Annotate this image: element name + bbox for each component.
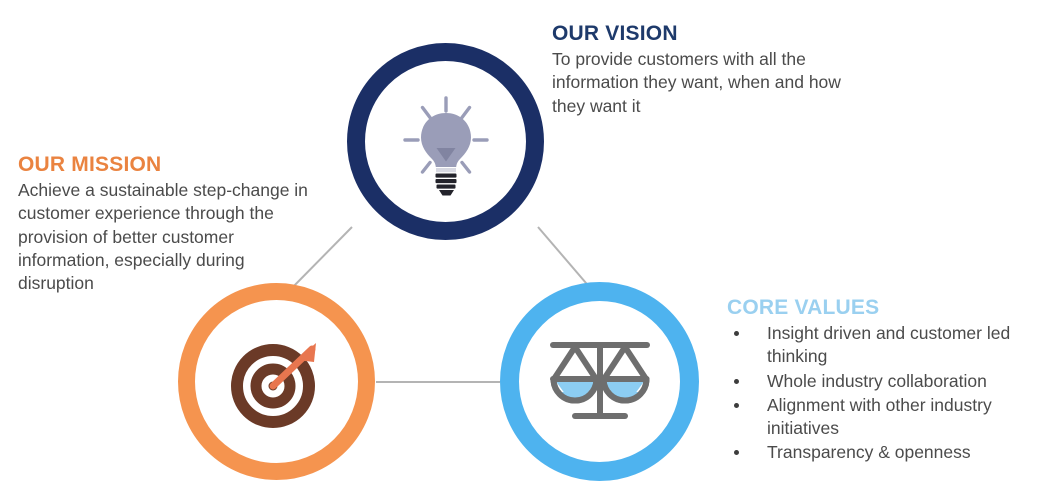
bullet-icon [734, 450, 739, 455]
list-item-label: Transparency & openness [767, 442, 971, 462]
mission-circle[interactable] [178, 283, 375, 480]
values-circle[interactable] [500, 282, 699, 481]
values-heading: CORE VALUES [727, 296, 1037, 320]
balance-scales-icon [542, 330, 658, 434]
mission-text-block: OUR MISSION Achieve a sustainable step-c… [18, 153, 323, 295]
values-list: Insight driven and customer led thinking… [727, 322, 1037, 465]
values-text-block: CORE VALUES Insight driven and customer … [727, 296, 1037, 466]
mission-icon-holder [195, 300, 358, 463]
bullet-icon [734, 403, 739, 408]
list-item-label: Insight driven and customer led thinking [767, 323, 1010, 366]
diagram-canvas: OUR VISION To provide customers with all… [0, 0, 1054, 492]
mission-body: Achieve a sustainable step-change in cus… [18, 179, 323, 295]
list-item: Insight driven and customer led thinking [727, 322, 1037, 369]
list-item-label: Whole industry collaboration [767, 371, 987, 391]
values-icon-holder [519, 301, 680, 462]
list-item: Whole industry collaboration [727, 370, 1037, 393]
connector-vision-to-values [538, 227, 592, 290]
vision-body: To provide customers with all the inform… [552, 48, 842, 118]
list-item: Transparency & openness [727, 441, 1037, 464]
bullet-icon [734, 331, 739, 336]
lightbulb-icon [392, 88, 500, 196]
vision-icon-holder [365, 61, 526, 222]
vision-circle[interactable] [347, 43, 544, 240]
list-item: Alignment with other industry initiative… [727, 394, 1037, 441]
list-item-label: Alignment with other industry initiative… [767, 395, 992, 438]
vision-heading: OUR VISION [552, 22, 842, 46]
bullet-icon [734, 379, 739, 384]
mission-heading: OUR MISSION [18, 153, 323, 177]
vision-text-block: OUR VISION To provide customers with all… [552, 22, 842, 118]
target-arrow-icon [224, 329, 330, 435]
